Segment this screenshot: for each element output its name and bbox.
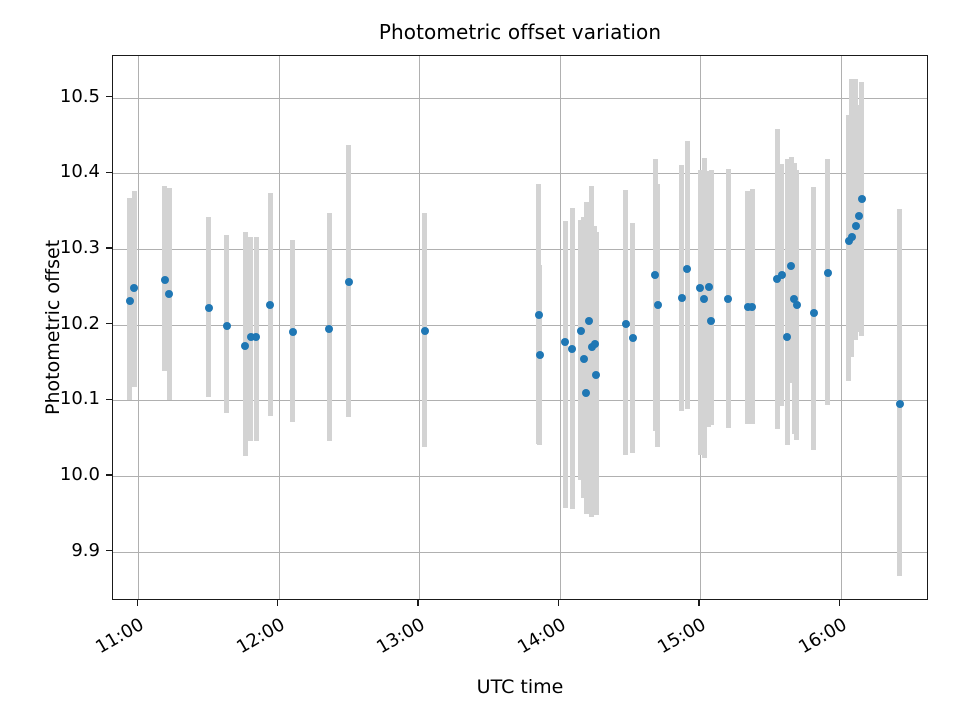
data-point [568, 345, 576, 353]
error-bar [779, 164, 784, 406]
error-bar [655, 184, 660, 447]
data-point [345, 278, 353, 286]
y-gridline [113, 400, 927, 401]
data-point [748, 303, 756, 311]
data-point [678, 294, 686, 302]
x-tick-label: 12:00 [139, 614, 288, 712]
error-bar [679, 165, 684, 411]
y-gridline [113, 476, 927, 477]
data-point [629, 334, 637, 342]
data-point [205, 304, 213, 312]
data-point [325, 325, 333, 333]
y-gridline [113, 325, 927, 326]
error-bar [859, 82, 864, 336]
data-point [824, 269, 832, 277]
data-point [289, 328, 297, 336]
x-tick-mark [137, 600, 138, 606]
data-point [165, 290, 173, 298]
data-point [421, 327, 429, 335]
data-point [223, 322, 231, 330]
data-point [252, 333, 260, 341]
y-gridline [113, 173, 927, 174]
data-point [241, 342, 249, 350]
data-point [585, 317, 593, 325]
data-point [577, 327, 585, 335]
error-bar [685, 141, 690, 410]
error-bar [709, 170, 714, 425]
x-tick-label: 14:00 [420, 614, 569, 712]
data-point [654, 301, 662, 309]
x-gridline [419, 56, 420, 599]
y-gridline [113, 98, 927, 99]
data-point [705, 283, 713, 291]
error-bar [897, 209, 902, 576]
x-tick-mark [277, 600, 278, 606]
y-gridline [113, 552, 927, 553]
data-point [130, 284, 138, 292]
x-tick-label: 15:00 [560, 614, 709, 712]
data-point [266, 301, 274, 309]
data-point [651, 271, 659, 279]
data-point [810, 309, 818, 317]
data-point [580, 355, 588, 363]
data-point [622, 320, 630, 328]
error-bar [825, 159, 830, 405]
data-point [787, 262, 795, 270]
data-point [783, 333, 791, 341]
data-point [535, 311, 543, 319]
data-point [858, 195, 866, 203]
data-point [896, 400, 904, 408]
x-gridline [560, 56, 561, 599]
data-point [848, 233, 856, 241]
data-point [793, 301, 801, 309]
data-point [592, 371, 600, 379]
x-tick-label: 11:00 [0, 614, 148, 712]
error-bar [563, 221, 568, 508]
x-tick-label: 13:00 [280, 614, 429, 712]
error-bar [811, 187, 816, 450]
y-gridline [113, 249, 927, 250]
data-point [724, 295, 732, 303]
data-point [778, 271, 786, 279]
x-gridline [841, 56, 842, 599]
x-tick-mark [698, 600, 699, 606]
x-tick-mark [558, 600, 559, 606]
x-tick-label: 16:00 [701, 614, 850, 712]
x-gridline [138, 56, 139, 599]
data-point [683, 265, 691, 273]
data-point [561, 338, 569, 346]
x-tick-mark [417, 600, 418, 606]
data-point [536, 351, 544, 359]
plot-area [112, 55, 928, 600]
data-point [707, 317, 715, 325]
error-bar [570, 208, 575, 509]
x-gridline [279, 56, 280, 599]
figure: Photometric offset variation Photometric… [0, 0, 960, 720]
x-tick-mark [839, 600, 840, 606]
data-point [161, 276, 169, 284]
